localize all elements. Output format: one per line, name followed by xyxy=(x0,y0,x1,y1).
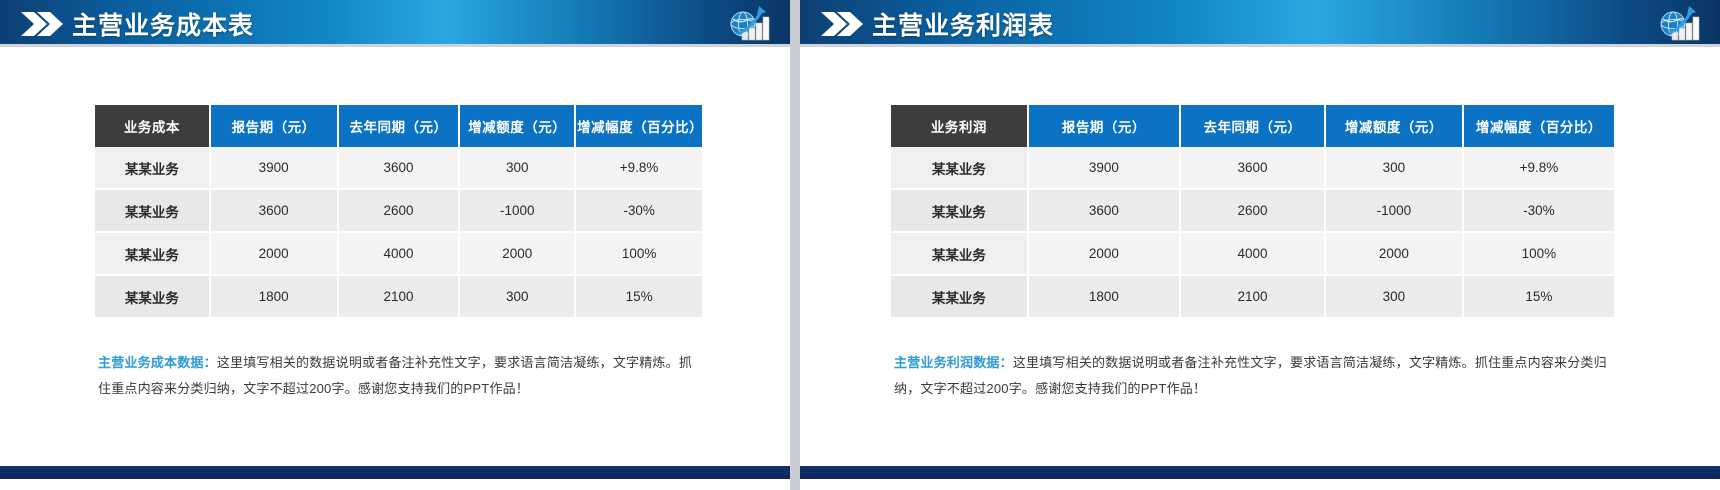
table-row: 某某业务 1800 2100 300 15% xyxy=(891,276,1614,317)
row-report: 1800 xyxy=(211,276,337,317)
row-delta-percent: 15% xyxy=(1464,276,1614,317)
table-row: 某某业务 2000 4000 2000 100% xyxy=(891,233,1614,276)
table-header-row: 业务利润 报告期（元） 去年同期（元） 增减额度（元） 增减幅度（百分比） xyxy=(891,105,1614,147)
profit-table-wrapper: 业务利润 报告期（元） 去年同期（元） 增减额度（元） 增减幅度（百分比） 某某… xyxy=(889,105,1616,317)
row-name: 某某业务 xyxy=(95,190,209,233)
profit-caption: 主营业务利润数据：这里填写相关的数据说明或者备注补充性文字，要求语言简洁凝练，文… xyxy=(894,350,1616,402)
row-delta-percent: 15% xyxy=(576,276,702,317)
row-report: 3900 xyxy=(211,147,337,190)
row-name: 某某业务 xyxy=(891,233,1027,276)
slide-body-profit: 业务利润 报告期（元） 去年同期（元） 增减额度（元） 增减幅度（百分比） 某某… xyxy=(800,105,1720,402)
row-delta-percent: +9.8% xyxy=(1464,147,1614,190)
table-col-header-delta-percent: 增减幅度（百分比） xyxy=(576,105,702,147)
footer-bar-right xyxy=(800,466,1720,479)
row-delta-amount: -1000 xyxy=(460,190,574,233)
caption-lead: 主营业务成本数据： xyxy=(98,355,217,370)
table-row: 某某业务 3600 2600 -1000 -30% xyxy=(891,190,1614,233)
slide-canvas: 主营业务成本表 业务 xyxy=(0,0,1720,490)
row-lastyear: 3600 xyxy=(339,147,459,190)
row-delta-amount: 300 xyxy=(1326,276,1462,317)
slide-body-cost: 业务成本 报告期（元） 去年同期（元） 增减额度（元） 增减幅度（百分比） 某某… xyxy=(0,105,790,402)
double-chevron-right-icon xyxy=(20,11,64,37)
double-chevron-right-icon xyxy=(820,11,864,37)
row-delta-percent: 100% xyxy=(1464,233,1614,276)
cost-caption: 主营业务成本数据：这里填写相关的数据说明或者备注补充性文字，要求语言简洁凝练，文… xyxy=(98,350,704,402)
table-col-header-report: 报告期（元） xyxy=(1029,105,1179,147)
row-lastyear: 2600 xyxy=(339,190,459,233)
slide-gutter xyxy=(790,0,800,490)
row-name: 某某业务 xyxy=(95,147,209,190)
table-col-header-delta-amount: 增减额度（元） xyxy=(1326,105,1462,147)
row-report: 3600 xyxy=(211,190,337,233)
slide-title-profit: 主营业务利润表 xyxy=(872,6,1054,42)
row-delta-percent: 100% xyxy=(576,233,702,276)
cost-table: 业务成本 报告期（元） 去年同期（元） 增减额度（元） 增减幅度（百分比） 某某… xyxy=(93,105,704,317)
slide-title-cost: 主营业务成本表 xyxy=(72,6,254,42)
row-name: 某某业务 xyxy=(891,147,1027,190)
table-header-row: 业务成本 报告期（元） 去年同期（元） 增减额度（元） 增减幅度（百分比） xyxy=(95,105,702,147)
row-report: 3600 xyxy=(1029,190,1179,233)
slide-header-profit: 主营业务利润表 xyxy=(800,0,1720,47)
footer-bar-left xyxy=(0,466,790,479)
table-row: 某某业务 3900 3600 300 +9.8% xyxy=(95,147,702,190)
caption-lead: 主营业务利润数据： xyxy=(894,355,1013,370)
globe-bar-chart-growth-icon xyxy=(1658,2,1706,44)
row-delta-percent: +9.8% xyxy=(576,147,702,190)
slide-cost: 主营业务成本表 业务 xyxy=(0,0,790,490)
row-delta-amount: 2000 xyxy=(460,233,574,276)
slide-profit: 主营业务利润表 业务 xyxy=(800,0,1720,490)
row-name: 某某业务 xyxy=(891,190,1027,233)
row-delta-amount: 2000 xyxy=(1326,233,1462,276)
row-lastyear: 2600 xyxy=(1181,190,1324,233)
table-row: 某某业务 3600 2600 -1000 -30% xyxy=(95,190,702,233)
row-delta-amount: -1000 xyxy=(1326,190,1462,233)
row-report: 3900 xyxy=(1029,147,1179,190)
table-col-header-lastyear: 去年同期（元） xyxy=(1181,105,1324,147)
profit-table: 业务利润 报告期（元） 去年同期（元） 增减额度（元） 增减幅度（百分比） 某某… xyxy=(889,105,1616,317)
table-col-header-report: 报告期（元） xyxy=(211,105,337,147)
table-row: 某某业务 2000 4000 2000 100% xyxy=(95,233,702,276)
table-col-header-delta-amount: 增减额度（元） xyxy=(460,105,574,147)
row-delta-amount: 300 xyxy=(1326,147,1462,190)
row-name: 某某业务 xyxy=(95,233,209,276)
row-lastyear: 2100 xyxy=(339,276,459,317)
row-report: 1800 xyxy=(1029,276,1179,317)
row-lastyear: 4000 xyxy=(339,233,459,276)
table-corner-header: 业务成本 xyxy=(95,105,209,147)
table-row: 某某业务 3900 3600 300 +9.8% xyxy=(891,147,1614,190)
globe-bar-chart-growth-icon xyxy=(728,2,776,44)
row-delta-amount: 300 xyxy=(460,276,574,317)
row-lastyear: 4000 xyxy=(1181,233,1324,276)
row-report: 2000 xyxy=(1029,233,1179,276)
row-delta-percent: -30% xyxy=(576,190,702,233)
table-col-header-delta-percent: 增减幅度（百分比） xyxy=(1464,105,1614,147)
row-report: 2000 xyxy=(211,233,337,276)
row-delta-amount: 300 xyxy=(460,147,574,190)
row-delta-percent: -30% xyxy=(1464,190,1614,233)
cost-table-wrapper: 业务成本 报告期（元） 去年同期（元） 增减额度（元） 增减幅度（百分比） 某某… xyxy=(93,105,704,317)
table-row: 某某业务 1800 2100 300 15% xyxy=(95,276,702,317)
slide-header-cost: 主营业务成本表 xyxy=(0,0,790,47)
row-lastyear: 3600 xyxy=(1181,147,1324,190)
row-name: 某某业务 xyxy=(95,276,209,317)
table-col-header-lastyear: 去年同期（元） xyxy=(339,105,459,147)
table-corner-header: 业务利润 xyxy=(891,105,1027,147)
row-lastyear: 2100 xyxy=(1181,276,1324,317)
row-name: 某某业务 xyxy=(891,276,1027,317)
